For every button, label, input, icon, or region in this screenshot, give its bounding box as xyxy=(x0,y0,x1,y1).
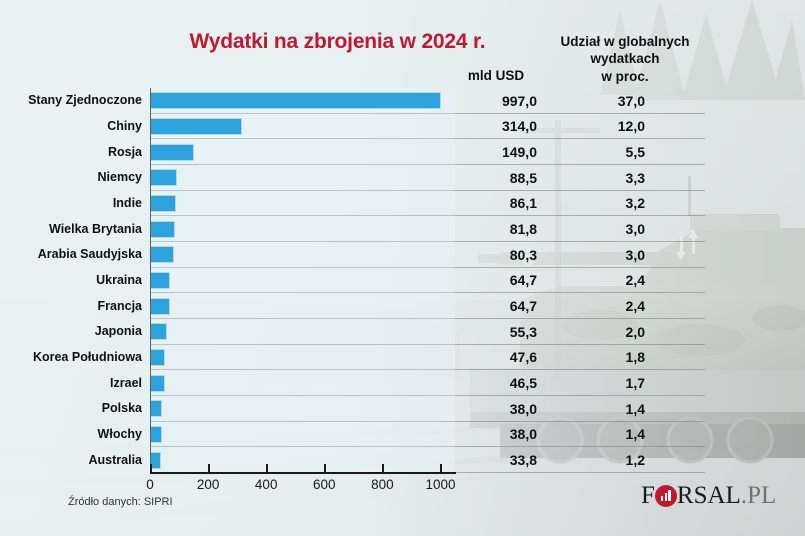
value-usd: 47,6 xyxy=(455,349,537,365)
category-label: Włochy xyxy=(0,427,142,441)
value-usd: 55,3 xyxy=(455,324,537,340)
chart-rows: Stany Zjednoczone997,037,0Chiny314,012,0… xyxy=(0,88,805,473)
category-label: Arabia Saudyjska xyxy=(0,247,142,261)
x-axis-tick xyxy=(382,464,384,473)
column-header-share-line2: wydatkach xyxy=(545,50,705,67)
table-row: Korea Południowa47,61,8 xyxy=(0,345,805,371)
x-axis-tick xyxy=(266,464,268,473)
table-row: Polska38,01,4 xyxy=(0,396,805,422)
value-share-percent: 1,4 xyxy=(560,426,645,442)
column-header-usd: mld USD xyxy=(455,68,537,83)
category-label: Niemcy xyxy=(0,170,142,184)
bar xyxy=(151,400,162,417)
value-usd: 64,7 xyxy=(455,298,537,314)
page-title: Wydatki na zbrojenia w 2024 r. xyxy=(150,30,525,54)
value-share-percent: 1,7 xyxy=(560,375,645,391)
table-row: Chiny314,012,0 xyxy=(0,114,805,140)
x-axis-tick-label: 200 xyxy=(180,477,236,492)
category-label: Izrael xyxy=(0,376,142,390)
forsal-logo[interactable]: F RSAL .PL xyxy=(641,483,776,508)
bar xyxy=(151,375,165,392)
value-share-percent: 37,0 xyxy=(560,93,645,109)
value-share-percent: 2,4 xyxy=(560,298,645,314)
bar xyxy=(151,221,175,238)
table-row: Japonia55,32,0 xyxy=(0,319,805,345)
table-row: Ukraina64,72,4 xyxy=(0,268,805,294)
x-axis-tick-label: 600 xyxy=(296,477,352,492)
value-usd: 314,0 xyxy=(455,118,537,134)
category-label: Australia xyxy=(0,453,142,467)
column-header-share-line3: w proc. xyxy=(545,68,705,85)
x-axis-tick-label: 400 xyxy=(238,477,294,492)
column-header-share: Udział w globalnych wydatkach w proc. xyxy=(545,33,705,85)
bar xyxy=(151,323,167,340)
bar xyxy=(151,272,170,289)
bar xyxy=(151,298,170,315)
x-axis-line xyxy=(150,472,456,474)
value-share-percent: 3,0 xyxy=(560,221,645,237)
value-share-percent: 2,0 xyxy=(560,324,645,340)
table-row: Arabia Saudyjska80,33,0 xyxy=(0,242,805,268)
source-note: Źródło danych: SIPRI xyxy=(68,496,173,508)
category-label: Wielka Brytania xyxy=(0,222,142,236)
table-row: Australia33,81,2 xyxy=(0,447,805,473)
value-usd: 80,3 xyxy=(455,247,537,263)
value-usd: 997,0 xyxy=(455,93,537,109)
value-usd: 64,7 xyxy=(455,272,537,288)
table-row: Wielka Brytania81,83,0 xyxy=(0,216,805,242)
bar xyxy=(151,452,161,469)
bar xyxy=(151,118,242,135)
value-usd: 38,0 xyxy=(455,401,537,417)
category-label: Chiny xyxy=(0,119,142,133)
value-usd: 33,8 xyxy=(455,452,537,468)
category-label: Korea Południowa xyxy=(0,350,142,364)
x-axis-tick xyxy=(440,464,442,473)
category-label: Polska xyxy=(0,401,142,415)
row-separator xyxy=(455,472,705,473)
value-share-percent: 3,0 xyxy=(560,247,645,263)
value-share-percent: 1,2 xyxy=(560,452,645,468)
value-usd: 81,8 xyxy=(455,221,537,237)
value-share-percent: 1,8 xyxy=(560,349,645,365)
value-usd: 46,5 xyxy=(455,375,537,391)
value-share-percent: 12,0 xyxy=(560,118,645,134)
category-label: Ukraina xyxy=(0,273,142,287)
x-axis-tick-label: 0 xyxy=(122,477,178,492)
value-usd: 86,1 xyxy=(455,195,537,211)
column-header-share-line1: Udział w globalnych xyxy=(545,33,705,50)
category-label: Indie xyxy=(0,196,142,210)
x-axis-tick-label: 800 xyxy=(354,477,410,492)
value-share-percent: 2,4 xyxy=(560,272,645,288)
value-share-percent: 3,2 xyxy=(560,195,645,211)
table-row: Rosja149,05,5 xyxy=(0,139,805,165)
bar xyxy=(151,92,441,109)
value-share-percent: 5,5 xyxy=(560,144,645,160)
logo-bar-chart-icon xyxy=(655,485,677,507)
bar xyxy=(151,144,194,161)
logo-domain-pl: .PL xyxy=(741,483,776,508)
bar xyxy=(151,169,177,186)
x-axis-tick xyxy=(208,464,210,473)
category-label: Rosja xyxy=(0,145,142,159)
table-row: Francja64,72,4 xyxy=(0,293,805,319)
value-usd: 88,5 xyxy=(455,170,537,186)
bar xyxy=(151,349,165,366)
category-label: Japonia xyxy=(0,324,142,338)
x-axis-tick xyxy=(150,464,152,473)
value-share-percent: 3,3 xyxy=(560,170,645,186)
table-row: Włochy38,01,4 xyxy=(0,422,805,448)
value-usd: 38,0 xyxy=(455,426,537,442)
table-row: Indie86,13,2 xyxy=(0,191,805,217)
table-row: Stany Zjednoczone997,037,0 xyxy=(0,88,805,114)
table-row: Izrael46,51,7 xyxy=(0,370,805,396)
x-axis-tick xyxy=(324,464,326,473)
bar xyxy=(151,426,162,443)
bar xyxy=(151,246,174,263)
x-axis-tick-label: 1000 xyxy=(412,477,468,492)
logo-letters-rsal: RSAL xyxy=(677,483,741,508)
category-label: Francja xyxy=(0,299,142,313)
bar xyxy=(151,195,176,212)
category-label: Stany Zjednoczone xyxy=(0,93,142,107)
logo-letter-f: F xyxy=(641,483,655,508)
value-usd: 149,0 xyxy=(455,144,537,160)
table-row: Niemcy88,53,3 xyxy=(0,165,805,191)
value-share-percent: 1,4 xyxy=(560,401,645,417)
